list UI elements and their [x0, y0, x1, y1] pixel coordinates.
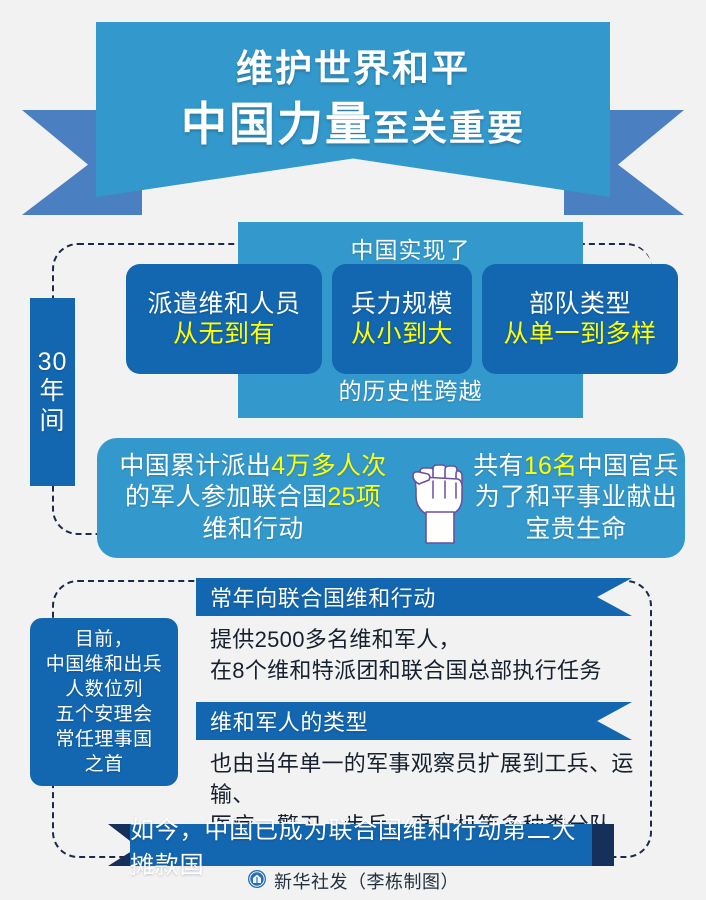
- xinhua-logo-icon: [247, 869, 267, 894]
- stat-left-line1: 中国累计派出4万多人次: [103, 451, 403, 483]
- duration-line-2: 间: [39, 407, 65, 437]
- header-ribbon: 维护世界和平 中国力量至关重要: [0, 22, 706, 217]
- achievement-card-3-title: 部队类型: [529, 289, 631, 320]
- achievement-card-3: 部队类型 从单一到多样: [482, 264, 678, 374]
- status-line-3: 五个安理会: [55, 702, 152, 727]
- achievement-cards: 派遣维和人员 从无到有 兵力规模 从小到大 部队类型 从单一到多样: [126, 264, 686, 374]
- achievement-card-2-highlight: 从小到大: [351, 319, 453, 350]
- header-title-line2-main: 中国力量: [181, 98, 373, 150]
- duration-side-label: 30 年 间: [30, 298, 75, 486]
- stat-right-line3: 宝贵生命: [467, 514, 685, 546]
- stat-right-line2: 为了和平事业献出: [467, 482, 685, 514]
- ribbon-banner: 维护世界和平 中国力量至关重要: [96, 22, 610, 197]
- status-line-1: 中国维和出兵: [46, 652, 162, 677]
- section-peacekeeping-contribution: 常年向联合国维和行动 提供2500多名维和军人， 在8个维和特派团和联合国总部执…: [196, 578, 664, 687]
- raised-fist-icon: [403, 448, 467, 548]
- statistics-right-text: 共有16名中国官兵 为了和平事业献出 宝贵生命: [467, 451, 685, 546]
- section-1-body-line1: 提供2500多名维和军人，: [210, 625, 664, 656]
- header-title-line2-small: 至关重要: [373, 107, 525, 148]
- credit-text: 新华社发（李栋制图）: [274, 868, 459, 894]
- status-line-5: 之首: [85, 752, 124, 777]
- stat-left-line1-highlight: 4万多人次: [271, 452, 386, 480]
- stat-left-line2-pre: 的军人参加联合国: [125, 483, 327, 511]
- section-1-banner: 常年向联合国维和行动: [196, 578, 632, 616]
- conclusion-banner-text: 如今，中国已成为联合国维和行动第二大摊款国: [130, 824, 592, 866]
- stat-right-line1: 共有16名中国官兵: [467, 451, 685, 483]
- achievement-card-1: 派遣维和人员 从无到有: [126, 264, 322, 374]
- stat-left-line3: 维和行动: [103, 514, 403, 546]
- header-title-line1: 维护世界和平: [96, 22, 610, 87]
- duration-line-0: 30: [38, 348, 68, 378]
- achievement-caption-top: 中国实现了: [238, 222, 583, 265]
- section-1-body: 提供2500多名维和军人， 在8个维和特派团和联合国总部执行任务: [196, 616, 664, 687]
- status-line-0: 目前，: [75, 627, 133, 652]
- achievement-card-1-highlight: 从无到有: [173, 319, 275, 350]
- section-2-body-line1: 也由当年单一的军事观察员扩展到工兵、运输、: [210, 749, 664, 811]
- statistics-bar: 中国累计派出4万多人次 的军人参加联合国25项 维和行动: [97, 438, 685, 558]
- achievement-caption-bottom: 的历史性跨越: [238, 372, 583, 406]
- status-line-4: 常任理事国: [55, 727, 152, 752]
- section-1-body-line2: 在8个维和特派团和联合国总部执行任务: [210, 656, 664, 687]
- stat-left-line2-highlight: 25项: [327, 483, 381, 511]
- credit-line: 新华社发（李栋制图）: [0, 868, 706, 894]
- conclusion-banner: 如今，中国已成为联合国维和行动第二大摊款国: [108, 824, 614, 866]
- header-title-line2: 中国力量至关重要: [96, 87, 610, 147]
- infographic-root: 维护世界和平 中国力量至关重要 30 年 间 中国实现了 的历史性跨越 派遣维和…: [0, 0, 706, 900]
- stat-right-line1-pre: 共有: [473, 452, 524, 480]
- achievement-card-1-title: 派遣维和人员: [147, 289, 300, 320]
- stat-right-line1-post: 中国官兵: [578, 452, 679, 480]
- current-status-card: 目前， 中国维和出兵 人数位列 五个安理会 常任理事国 之首: [30, 618, 178, 786]
- achievement-card-2-title: 兵力规模: [351, 289, 453, 320]
- status-line-2: 人数位列: [65, 677, 143, 702]
- achievement-card-2: 兵力规模 从小到大: [332, 264, 472, 374]
- duration-line-1: 年: [39, 377, 65, 407]
- stat-right-line1-highlight: 16名: [524, 452, 578, 480]
- stat-left-line2: 的军人参加联合国25项: [103, 482, 403, 514]
- section-1-banner-wrap: 常年向联合国维和行动: [196, 578, 632, 616]
- section-2-banner-wrap: 维和军人的类型: [196, 702, 632, 740]
- stat-left-line1-pre: 中国累计派出: [119, 452, 271, 480]
- achievement-card-3-highlight: 从单一到多样: [503, 319, 656, 350]
- statistics-left-text: 中国累计派出4万多人次 的军人参加联合国25项 维和行动: [97, 451, 403, 546]
- section-2-banner: 维和军人的类型: [196, 702, 632, 740]
